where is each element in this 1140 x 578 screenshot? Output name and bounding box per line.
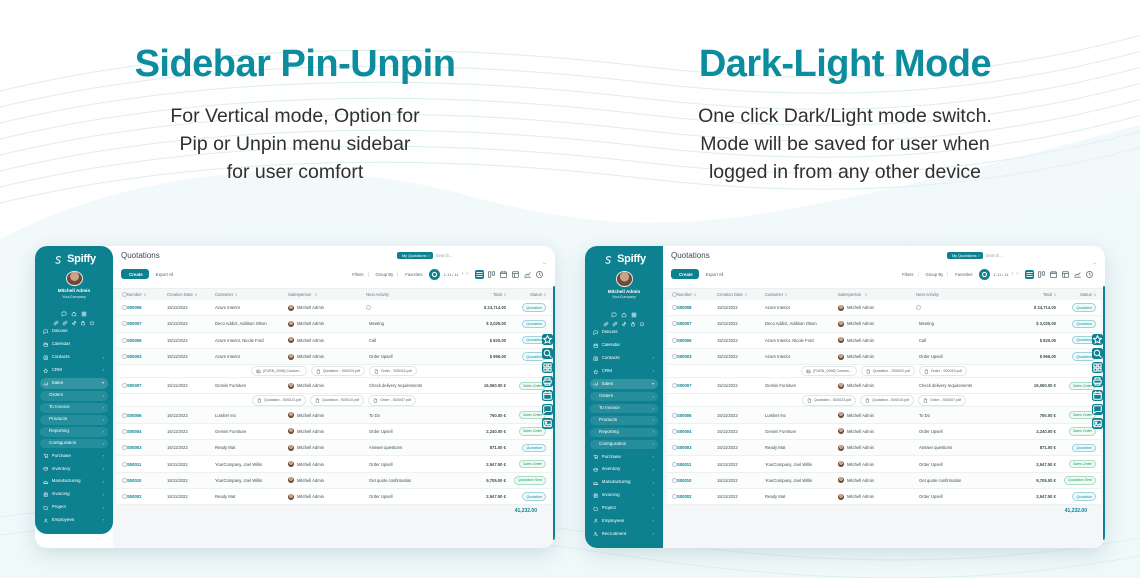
salesperson-avatar — [838, 305, 844, 311]
chevron-right-icon: › — [653, 455, 654, 459]
sidebar-item-reporting[interactable]: Reporting› — [40, 427, 108, 437]
attachment-label: Quotation - S00010.pdf — [322, 398, 359, 402]
search-facet[interactable]: My Quotations▪ — [947, 252, 983, 259]
scroll-indicator[interactable] — [553, 286, 555, 540]
cell-creation-date: 15/11/2022 — [167, 338, 215, 343]
lock-icon[interactable] — [630, 314, 636, 320]
chevron-right-icon: › — [103, 467, 104, 471]
attachment-chip[interactable]: Order - S00007.pdf — [918, 395, 966, 405]
cell-salesperson: Mitchell Admin — [838, 305, 916, 311]
salesperson-avatar — [838, 321, 844, 327]
cell-creation-date: 15/11/2022 — [717, 494, 765, 499]
cell-next-activity[interactable]: Call — [366, 338, 454, 343]
sidebar-item-to-invoice[interactable]: To Invoice› — [590, 404, 658, 414]
cell-salesperson: Mitchell Admin — [288, 321, 366, 327]
sidebar-item-invoicing[interactable]: Invoicing› — [40, 489, 108, 500]
sidebar-item-sales[interactable]: Sales▾ — [590, 379, 658, 390]
cell-total: 2,947.50 € — [1004, 494, 1056, 499]
grid-icon[interactable] — [631, 305, 637, 311]
calendar-rail-icon[interactable] — [542, 390, 553, 401]
chevron-down-icon[interactable] — [542, 253, 547, 258]
cell-next-activity[interactable]: Order Upsell — [366, 494, 454, 499]
grid-rail-icon[interactable] — [542, 362, 553, 373]
view-calendar-view-icon[interactable] — [499, 270, 508, 279]
image-file-icon — [806, 369, 811, 374]
table-row[interactable]: S0000315/11/2022Azure InteriorMitchell A… — [117, 349, 551, 365]
search-input[interactable]: Search... — [986, 253, 1089, 258]
attachment-chip[interactable]: Quotation - S00023.pdf — [311, 366, 365, 376]
attachment-row: [FURN_0096] Custom...Quotation - S00023.… — [667, 365, 1101, 378]
column-header-total[interactable]: Total ⇅ — [454, 292, 506, 297]
avatar[interactable] — [616, 271, 633, 287]
no-activity-icon — [366, 305, 371, 310]
attachment-chip[interactable]: Quotation - S00023.pdf — [861, 366, 915, 376]
cell-number[interactable]: S00007 — [127, 321, 167, 326]
cell-number[interactable]: S00010 — [127, 478, 167, 483]
table-row[interactable]: S0000615/11/2022Lumber IncMitchell Admin… — [117, 407, 551, 423]
sidebar-item-inventory[interactable]: Inventory› — [40, 464, 108, 475]
cell-status: Quotation — [1056, 492, 1096, 500]
view-calendar-view-icon[interactable] — [1049, 270, 1058, 279]
cell-number[interactable]: S00011 — [677, 462, 717, 467]
cell-next-activity[interactable]: Get quote confirmation — [916, 478, 1004, 483]
control-panel: QuotationsMy Quotations▪Search...CreateE… — [113, 246, 555, 289]
group-by-button[interactable]: Group By — [368, 272, 394, 277]
sidebar-item-invoicing[interactable]: Invoicing› — [590, 490, 658, 501]
column-header-number[interactable]: Number ⇅ — [127, 292, 167, 297]
cell-total: 9,705.00 € — [454, 478, 506, 483]
view-graph-view-icon[interactable] — [523, 270, 532, 279]
pager[interactable]: 1-11 / 11‹› — [429, 269, 468, 280]
pager-count: 1-11 / 11 — [443, 272, 458, 277]
chat-rail-icon[interactable] — [542, 404, 553, 415]
right-subtitle-line-3: logged in from any other device — [575, 158, 1115, 186]
cell-creation-date: 15/11/2022 — [167, 445, 215, 450]
cell-number[interactable]: S00003 — [677, 445, 717, 450]
messages-icon[interactable] — [61, 304, 67, 310]
cell-number[interactable]: S00010 — [677, 478, 717, 483]
table-row[interactable]: S0000715/11/2022Gemini FurnitureMitchell… — [117, 378, 551, 394]
column-header-customer[interactable]: Customer ⇅ — [765, 292, 838, 297]
left-heading-block: Sidebar Pin-Unpin For Vertical mode, Opt… — [25, 44, 565, 187]
cell-customer: Gemini Furniture — [215, 383, 288, 388]
home-icon[interactable] — [621, 305, 627, 311]
left-subtitle-line-1: For Vertical mode, Option for — [25, 102, 565, 130]
sidebar-item-manufacturing[interactable]: Manufacturing› — [40, 476, 108, 487]
cell-salesperson: Mitchell Admin — [288, 461, 366, 467]
filters-button[interactable]: Filters — [350, 272, 363, 277]
favorites-button[interactable]: Favorites — [947, 272, 972, 277]
table-row[interactable]: S0000415/11/2022Gemini FurnitureMitchell… — [117, 424, 551, 440]
cell-number[interactable]: S00004 — [677, 429, 717, 434]
sidebar-item-discuss[interactable]: Discuss — [40, 326, 108, 337]
sidebar-item-contacts[interactable]: Contacts› — [590, 353, 658, 364]
cell-status: Quotation — [1056, 444, 1096, 452]
salesperson-avatar — [288, 321, 294, 327]
app-screenshot-pinned-sidebar: SpiffyMitchell AdminYourCompanyDiscussCa… — [585, 246, 1105, 548]
sidebar-item-products[interactable]: Products› — [590, 416, 658, 426]
search-facet-label: My Quotations — [402, 254, 426, 258]
chevron-down-icon: ▾ — [102, 381, 104, 385]
attachment-chip[interactable]: Quotation - S00010.pdf — [860, 395, 914, 405]
column-header-status[interactable]: Status ⇅ — [506, 292, 546, 297]
salesperson-avatar — [288, 383, 294, 389]
cell-number[interactable]: S00004 — [127, 429, 167, 434]
cell-next-activity[interactable]: Get quote confirmation — [366, 478, 454, 483]
scroll-indicator[interactable] — [1103, 286, 1105, 540]
cell-next-activity[interactable]: Order Upsell — [916, 354, 1004, 359]
cell-salesperson: Mitchell Admin — [838, 337, 916, 343]
image-rail-icon[interactable] — [542, 418, 553, 429]
messages-icon[interactable] — [611, 305, 617, 311]
cell-total: $ 820.00 — [454, 338, 506, 343]
cell-next-activity[interactable] — [916, 305, 1004, 310]
salesperson-avatar — [838, 494, 844, 500]
star-rail-icon[interactable] — [542, 334, 553, 345]
table-row[interactable]: S0000215/11/2022Ready MatMitchell AdminO… — [117, 489, 551, 505]
brand-name: Spiffy — [617, 253, 646, 265]
pager-prev-button[interactable]: ‹ — [1012, 271, 1014, 277]
table-row[interactable]: S0000715/11/2022Deco Addict, Addison Ols… — [117, 316, 551, 332]
sidebar-item-project[interactable]: Project› — [590, 503, 658, 514]
attachment-chip[interactable]: Quotation - S00010.pdf — [310, 395, 364, 405]
cell-next-activity[interactable]: Order Upsell — [916, 494, 1004, 499]
sidebar-item-label: Products — [599, 418, 650, 423]
app-sidebar[interactable]: SpiffyMitchell AdminYourCompanyDiscussCa… — [35, 246, 113, 534]
app-sidebar[interactable]: SpiffyMitchell AdminYourCompanyDiscussCa… — [585, 246, 663, 548]
right-title: Dark-Light Mode — [575, 44, 1115, 86]
pager-settings-icon[interactable] — [429, 269, 440, 280]
cell-number[interactable]: S00003 — [127, 354, 167, 359]
purchase-icon — [43, 453, 49, 459]
sidebar-item-label: Employees — [52, 518, 100, 523]
sidebar-item-label: Sales — [602, 382, 649, 387]
cell-next-activity[interactable]: Order Upsell — [366, 429, 454, 434]
table-row[interactable]: S0000815/11/2022Azure InteriorMitchell A… — [117, 300, 551, 316]
sidebar-item-label: Configuration — [599, 442, 650, 447]
cell-number[interactable]: S00002 — [677, 494, 717, 499]
view-activity-view-icon[interactable] — [535, 270, 544, 279]
cell-status: Sales Order — [506, 411, 546, 419]
table-row[interactable]: S0001115/11/2022YourCompany, Joel Willis… — [667, 456, 1101, 472]
cell-creation-date: 15/11/2022 — [717, 413, 765, 418]
export-all-button[interactable]: Export All — [154, 272, 174, 277]
cell-total: $ 966.00 — [454, 354, 506, 359]
sidebar-item-contacts[interactable]: Contacts› — [40, 352, 108, 363]
column-header-salesperson[interactable]: Salesperson ⇅ — [838, 292, 916, 297]
export-all-button[interactable]: Export All — [704, 272, 724, 277]
sidebar-item-employees[interactable]: Employees› — [590, 516, 658, 527]
salesperson-avatar — [288, 412, 294, 418]
cell-total: $ 3,025.00 — [454, 321, 506, 326]
sidebar-item-calendar[interactable]: Calendar — [40, 339, 108, 350]
app-main-pane: QuotationsMy Quotations▪Search...CreateE… — [663, 246, 1105, 548]
power-icon[interactable] — [89, 313, 95, 319]
create-button[interactable]: Create — [121, 269, 149, 279]
search-bar[interactable]: My Quotations▪Search... — [397, 252, 547, 259]
sidebar-item-products[interactable]: Products› — [40, 415, 108, 425]
table-row[interactable]: S0000315/11/2022Ready MatMitchell AdminA… — [117, 440, 551, 456]
table-row[interactable]: S0001015/11/2022YourCompany, Joel Willis… — [117, 473, 551, 489]
attachment-chip[interactable]: Order - S00015.pdf — [369, 366, 417, 376]
cell-next-activity[interactable]: Answer questions — [366, 445, 454, 450]
chevron-right-icon: › — [103, 506, 104, 510]
home-icon[interactable] — [71, 304, 77, 310]
attachment-chip[interactable]: Order - S00007.pdf — [368, 395, 416, 405]
cell-next-activity[interactable]: Call — [916, 338, 1004, 343]
crm-icon — [593, 369, 599, 375]
cell-customer: YourCompany, Joel Willis — [765, 478, 838, 483]
cell-number[interactable]: S00003 — [127, 445, 167, 450]
cell-number[interactable]: S00006 — [127, 413, 167, 418]
cell-total: 2,947.50 € — [454, 494, 506, 499]
link-icon[interactable] — [603, 314, 609, 320]
column-header-creation-date[interactable]: Creation Date ⇅ — [717, 292, 765, 297]
cell-next-activity[interactable]: Order Upsell — [916, 462, 1004, 467]
column-header-number[interactable]: Number ⇅ — [677, 292, 717, 297]
salesperson-avatar — [288, 354, 294, 360]
cell-total: 2,947.50 € — [1004, 462, 1056, 467]
sidebar-item-sales[interactable]: Sales▾ — [40, 378, 108, 389]
cell-salesperson: Mitchell Admin — [838, 445, 916, 451]
cell-number[interactable]: S00007 — [127, 383, 167, 388]
pager[interactable]: 1-11 / 11‹› — [979, 269, 1018, 280]
chevron-right-icon: › — [103, 493, 104, 497]
cell-next-activity[interactable] — [366, 305, 454, 310]
chevron-right-icon: › — [653, 468, 654, 472]
sidebar-item-apps[interactable]: Apps› — [590, 542, 658, 544]
pdf-file-icon — [373, 398, 378, 403]
brand[interactable]: Spiffy — [590, 253, 658, 265]
link-icon[interactable] — [53, 313, 59, 319]
chevron-down-icon[interactable] — [1092, 253, 1097, 258]
cell-next-activity[interactable]: Order Upsell — [366, 462, 454, 467]
create-button[interactable]: Create — [671, 269, 699, 279]
sidebar-item-discuss[interactable]: Discuss — [590, 327, 658, 338]
view-list-view-icon[interactable] — [475, 270, 484, 279]
table-row[interactable]: S0000415/11/2022Gemini FurnitureMitchell… — [667, 424, 1101, 440]
cell-customer: Azure Interior — [765, 354, 838, 359]
view-graph-view-icon[interactable] — [1073, 270, 1082, 279]
cell-customer: Deco Addict, Addison Olson — [215, 321, 288, 326]
sidebar-item-recruitment[interactable]: Recruitment› — [40, 528, 108, 530]
lock-icon[interactable] — [80, 313, 86, 319]
sidebar-item-to-invoice[interactable]: To Invoice› — [40, 403, 108, 413]
group-by-button[interactable]: Group By — [918, 272, 944, 277]
sidebar-item-inventory[interactable]: Inventory› — [590, 464, 658, 475]
cell-number[interactable]: S00008 — [127, 305, 167, 310]
cell-number[interactable]: S00008 — [677, 305, 717, 310]
salesperson-avatar — [838, 354, 844, 360]
column-header-status[interactable]: Status ⇅ — [1056, 292, 1096, 297]
link-alt-icon[interactable] — [612, 314, 618, 320]
cell-total: $ 966.00 — [1004, 354, 1056, 359]
view-list-view-icon[interactable] — [1025, 270, 1034, 279]
sidebar-item-label: Configuration — [49, 441, 100, 446]
cell-total: 2,240.00 € — [454, 429, 506, 434]
salesperson-avatar — [838, 412, 844, 418]
sidebar-item-label: Inventory — [602, 467, 650, 472]
sidebar-item-recruitment[interactable]: Recruitment› — [590, 529, 658, 540]
cell-next-activity[interactable]: To Do — [916, 413, 1004, 418]
view-kanban-view-icon[interactable] — [1037, 270, 1046, 279]
cell-number[interactable]: S00006 — [677, 413, 717, 418]
status-badge: Quotation — [522, 444, 546, 452]
status-badge: Quotation — [1072, 492, 1096, 500]
cell-next-activity[interactable]: To Do — [366, 413, 454, 418]
table-row[interactable]: S0000615/11/2022Lumber IncMitchell Admin… — [667, 407, 1101, 423]
attachment-chip[interactable]: [FURN_0096] Custom... — [251, 366, 306, 376]
attachment-chip[interactable]: Quotation - S00023.pdf — [802, 395, 856, 405]
cell-number[interactable]: S00006 — [127, 338, 167, 343]
view-activity-view-icon[interactable] — [1085, 270, 1094, 279]
sidebar-item-project[interactable]: Project› — [40, 502, 108, 513]
attachment-chip[interactable]: Quotation - S00023.pdf — [252, 395, 306, 405]
cell-creation-date: 15/11/2022 — [167, 305, 215, 310]
cell-next-activity[interactable]: Order Upsell — [366, 354, 454, 359]
cell-number[interactable]: S00006 — [677, 338, 717, 343]
table-row[interactable]: S0001015/11/2022YourCompany, Joel Willis… — [667, 473, 1101, 489]
favorites-button[interactable]: Favorites — [397, 272, 422, 277]
view-pivot-view-icon[interactable] — [511, 270, 520, 279]
table-row[interactable]: S0000615/11/2022Azure Interior, Nicole F… — [667, 333, 1101, 349]
group-by-label: Group By — [376, 272, 394, 277]
table-row[interactable]: S0000615/11/2022Azure Interior, Nicole F… — [117, 333, 551, 349]
attachment-chip[interactable]: Order - S00015.pdf — [919, 366, 967, 376]
pager-settings-icon[interactable] — [979, 269, 990, 280]
pdf-file-icon — [374, 369, 379, 374]
power-icon[interactable] — [639, 314, 645, 320]
cell-number[interactable]: S00002 — [127, 494, 167, 499]
column-header-creation-date[interactable]: Creation Date ⇅ — [167, 292, 215, 297]
cell-customer: Gemini Furniture — [765, 429, 838, 434]
close-icon[interactable]: ▪ — [428, 254, 429, 258]
sidebar-item-orders[interactable]: Orders› — [590, 392, 658, 402]
sidebar-item-employees[interactable]: Employees› — [40, 515, 108, 526]
image-rail-icon[interactable] — [1092, 418, 1103, 429]
search-rail-icon[interactable] — [1092, 348, 1103, 359]
table-row[interactable]: S0001115/11/2022YourCompany, Joel Willis… — [117, 456, 551, 472]
chat-rail-icon[interactable] — [1092, 404, 1103, 415]
cell-next-activity[interactable]: Meeting — [916, 321, 1004, 326]
table-row[interactable]: S0000715/11/2022Gemini FurnitureMitchell… — [667, 378, 1101, 394]
column-header-total[interactable]: Total ⇅ — [1004, 292, 1056, 297]
brand[interactable]: Spiffy — [40, 253, 108, 265]
floating-action-rail — [1092, 334, 1103, 429]
cell-customer: YourCompany, Joel Willis — [215, 462, 288, 467]
cell-next-activity[interactable]: Check delivery requirements — [366, 383, 454, 388]
cell-next-activity[interactable]: Meeting — [366, 321, 454, 326]
sidebar-item-configuration[interactable]: Configuration› — [40, 439, 108, 449]
attachment-chip[interactable]: [FURN_0096] Custom... — [801, 366, 856, 376]
sidebar-item-reporting[interactable]: Reporting› — [590, 428, 658, 438]
link-alt-icon[interactable] — [62, 313, 68, 319]
close-icon[interactable]: ▪ — [978, 254, 979, 258]
right-subtitle: One click Dark/Light mode switch. Mode w… — [575, 102, 1115, 187]
table-row[interactable]: S0000315/11/2022Azure InteriorMitchell A… — [667, 349, 1101, 365]
cell-status: Quotation — [1056, 320, 1096, 328]
search-input[interactable]: Search... — [436, 253, 539, 258]
pager-prev-button[interactable]: ‹ — [462, 271, 464, 277]
cell-total: $ 24,714.00 — [454, 305, 506, 310]
table-row[interactable]: S0000215/11/2022Ready MatMitchell AdminO… — [667, 489, 1101, 505]
column-header-salesperson[interactable]: Salesperson ⇅ — [288, 292, 366, 297]
cell-next-activity[interactable]: Check delivery requirements — [916, 383, 1004, 388]
search-facet[interactable]: My Quotations▪ — [397, 252, 433, 259]
column-header-customer[interactable]: Customer ⇅ — [215, 292, 288, 297]
sidebar-item-purchase[interactable]: Purchase› — [590, 452, 658, 463]
table-row[interactable]: S0000315/11/2022Ready MatMitchell AdminA… — [667, 440, 1101, 456]
sidebar-item-manufacturing[interactable]: Manufacturing› — [590, 477, 658, 488]
pin-icon[interactable] — [71, 313, 77, 319]
chevron-right-icon: › — [103, 442, 104, 446]
cell-creation-date: 15/11/2022 — [717, 338, 765, 343]
sidebar-item-orders[interactable]: Orders› — [40, 391, 108, 401]
pager-next-button[interactable]: › — [466, 271, 468, 277]
status-badge: Quotation — [522, 320, 546, 328]
status-badge: Quotation Sent — [1064, 476, 1096, 484]
grid-rail-icon[interactable] — [1092, 362, 1103, 373]
pager-next-button[interactable]: › — [1016, 271, 1018, 277]
chevron-right-icon: › — [103, 430, 104, 434]
pdf-file-icon — [866, 369, 871, 374]
chevron-right-icon: › — [103, 418, 104, 422]
chat-icon — [43, 329, 49, 335]
search-rail-icon[interactable] — [542, 348, 553, 359]
view-pivot-view-icon[interactable] — [1061, 270, 1070, 279]
print-rail-icon[interactable] — [1092, 376, 1103, 387]
view-kanban-view-icon[interactable] — [487, 270, 496, 279]
cell-number[interactable]: S00007 — [677, 321, 717, 326]
star-rail-icon[interactable] — [1092, 334, 1103, 345]
sidebar-item-crm[interactable]: CRM› — [40, 365, 108, 376]
breadcrumb[interactable]: Quotations — [671, 251, 710, 260]
export-all-label: Export All — [706, 272, 724, 277]
table-row[interactable]: S0000815/11/2022Azure InteriorMitchell A… — [667, 300, 1101, 316]
avatar[interactable] — [66, 271, 83, 286]
cell-next-activity[interactable]: Answer questions — [916, 445, 1004, 450]
sidebar-item-calendar[interactable]: Calendar — [590, 340, 658, 351]
sidebar-item-purchase[interactable]: Purchase› — [40, 451, 108, 462]
salesperson-avatar — [838, 337, 844, 343]
sidebar-item-crm[interactable]: CRM› — [590, 366, 658, 377]
image-file-icon — [256, 369, 261, 374]
filters-button[interactable]: Filters — [900, 272, 913, 277]
cell-customer: Ready Mat — [215, 445, 288, 450]
sidebar-item-configuration[interactable]: Configuration› — [590, 440, 658, 450]
cell-number[interactable]: S00011 — [127, 462, 167, 467]
column-header-next-activity[interactable]: Next Activity — [916, 292, 1004, 297]
salesperson-avatar — [288, 428, 294, 434]
project-icon — [593, 506, 599, 512]
cell-number[interactable]: S00003 — [677, 354, 717, 359]
cell-next-activity[interactable]: Order Upsell — [916, 429, 1004, 434]
cell-status: Quotation — [506, 336, 546, 344]
table-row[interactable]: S0000715/11/2022Deco Addict, Addison Ols… — [667, 316, 1101, 332]
sidebar-item-label: Reporting — [599, 430, 650, 435]
column-header-next-activity[interactable]: Next Activity — [366, 292, 454, 297]
print-rail-icon[interactable] — [542, 376, 553, 387]
search-bar[interactable]: My Quotations▪Search... — [947, 252, 1097, 259]
inventory-icon — [593, 467, 599, 473]
pin-icon[interactable] — [621, 314, 627, 320]
quotations-table: Number ⇅Creation Date ⇅Customer ⇅Salespe… — [113, 289, 555, 548]
breadcrumb[interactable]: Quotations — [121, 251, 160, 260]
salesperson-avatar — [838, 445, 844, 451]
cell-number[interactable]: S00007 — [677, 383, 717, 388]
calendar-rail-icon[interactable] — [1092, 390, 1103, 401]
grid-icon[interactable] — [81, 304, 87, 310]
